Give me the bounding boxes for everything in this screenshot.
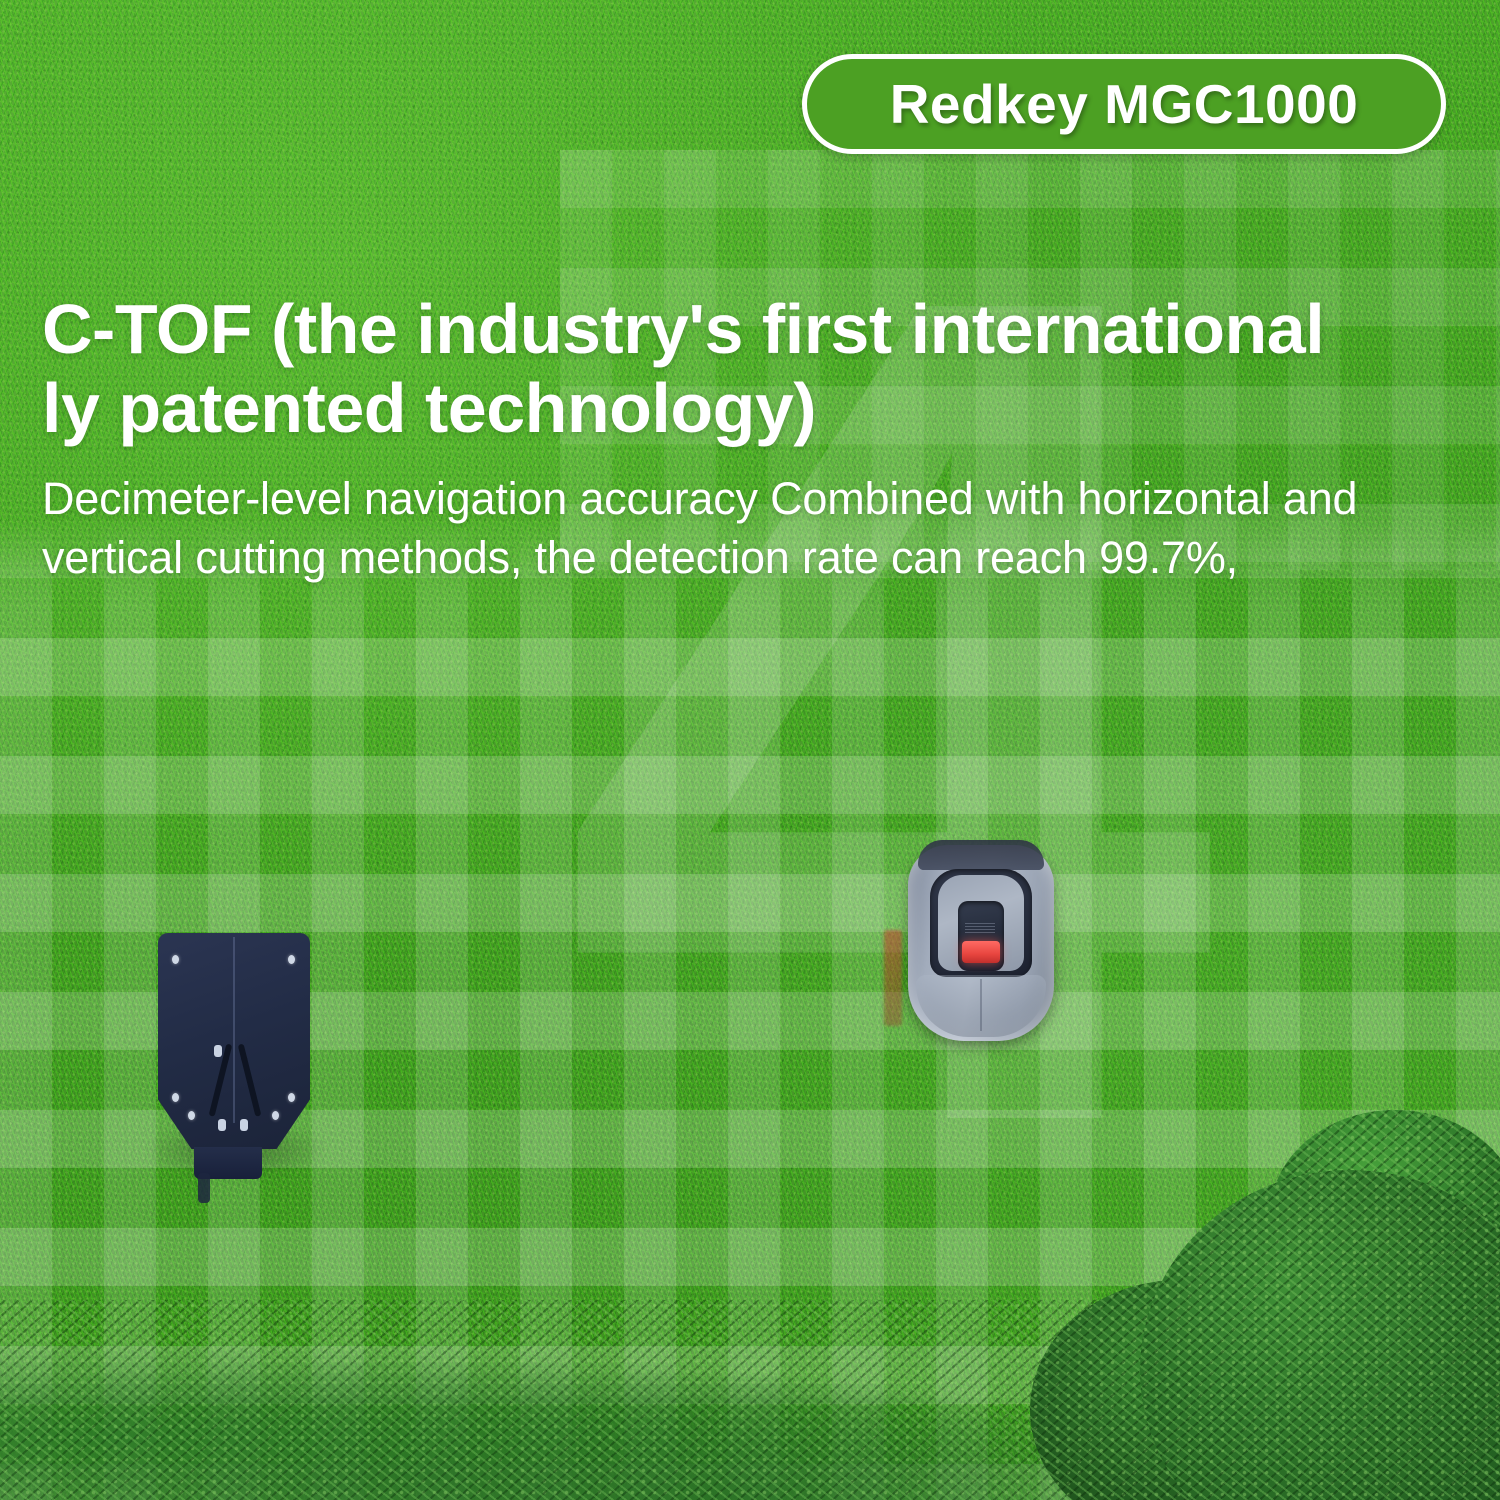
dock-screw <box>172 955 179 964</box>
mower-front-bumper <box>918 840 1044 870</box>
product-name-badge: Redkey MGC1000 <box>802 54 1446 154</box>
charging-dock <box>158 933 310 1158</box>
dock-cable <box>198 1173 210 1203</box>
dock-pin-left <box>218 1119 226 1131</box>
dock-center-seam <box>233 937 235 1123</box>
dock-pin-right <box>240 1119 248 1131</box>
mower-rear-seam <box>980 979 982 1031</box>
robot-lawn-mower <box>908 845 1054 1041</box>
dock-screw <box>288 955 295 964</box>
mower-sensor-grille <box>965 923 995 933</box>
dock-screw <box>272 1111 279 1120</box>
dock-screw <box>188 1111 195 1120</box>
dock-contact-tip-left <box>214 1045 222 1057</box>
product-name-label: Redkey MGC1000 <box>890 72 1359 136</box>
marketing-copy-block: C-TOF (the industry's first internationa… <box>42 290 1462 587</box>
dock-screw <box>172 1093 179 1102</box>
boundary-marker <box>884 930 902 1026</box>
product-feature-image: 4 <box>0 0 1500 1500</box>
mower-status-indicator <box>962 941 1000 963</box>
dock-screw <box>288 1093 295 1102</box>
subcopy-text: Decimeter-level navigation accuracy Comb… <box>42 470 1382 587</box>
headline-text: C-TOF (the industry's first internationa… <box>42 290 1462 448</box>
